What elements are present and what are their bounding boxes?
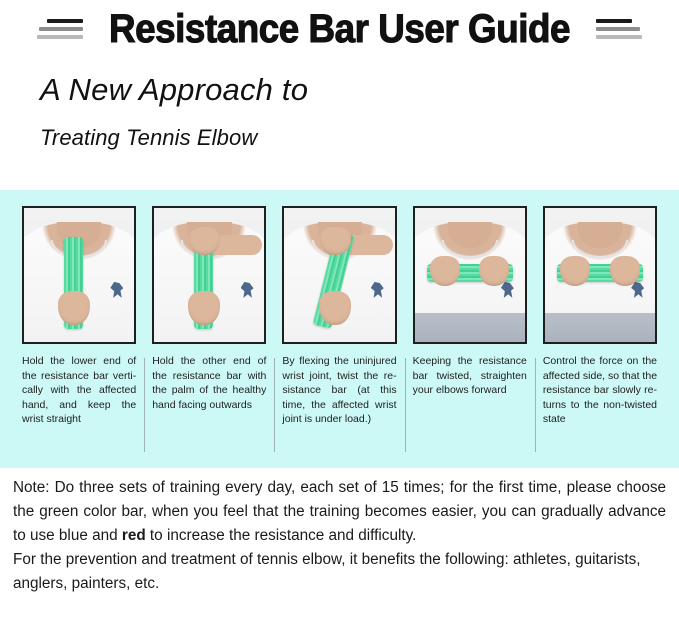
step-caption-2: Hold the other end of the resistance bar… — [152, 354, 266, 412]
step-item-1: Hold the lower end of the resistance bar… — [14, 206, 144, 468]
note-block: Note: Do three sets of training every da… — [0, 476, 679, 596]
instruction-steps-panel: Hold the lower end of the resistance bar… — [0, 190, 679, 468]
page-header: Resistance Bar User Guide — [0, 0, 679, 56]
step-item-3: By flexing the uninjured wrist joint, tw… — [274, 206, 404, 468]
step-photo-4 — [413, 206, 527, 344]
step-photo-3 — [282, 206, 396, 344]
step-caption-1: Hold the lower end of the resistance bar… — [22, 354, 136, 427]
step-item-5: Control the force on the affected side, … — [535, 206, 665, 468]
step-caption-3: By flexing the uninjured wrist joint, tw… — [282, 354, 396, 427]
steps-row: Hold the lower end of the resistance bar… — [0, 190, 679, 468]
step-photo-2 — [152, 206, 266, 344]
note-text-part-2: to increase the resistance and difficult… — [146, 527, 417, 544]
note-emphasis-red: red — [122, 527, 146, 544]
step-photo-5 — [543, 206, 657, 344]
note-paragraph-1: Note: Do three sets of training every da… — [13, 476, 666, 548]
step-item-2: Hold the other end of the resistance bar… — [144, 206, 274, 468]
triple-rule-decoration-left-icon — [37, 19, 83, 39]
subtitle-line-1: A New Approach to — [40, 70, 679, 110]
subtitle-line-2: Treating Tennis Elbow — [40, 122, 679, 154]
step-caption-4: Keeping the resistance bar twisted, stra… — [413, 354, 527, 398]
step-item-4: Keeping the resistance bar twisted, stra… — [405, 206, 535, 468]
step-photo-1 — [22, 206, 136, 344]
note-paragraph-2: For the prevention and treatment of tenn… — [13, 548, 666, 596]
triple-rule-decoration-right-icon — [596, 19, 642, 39]
step-caption-5: Control the force on the affected side, … — [543, 354, 657, 427]
page-title: Resistance Bar User Guide — [109, 7, 570, 51]
subtitle-block: A New Approach to Treating Tennis Elbow — [0, 56, 679, 154]
